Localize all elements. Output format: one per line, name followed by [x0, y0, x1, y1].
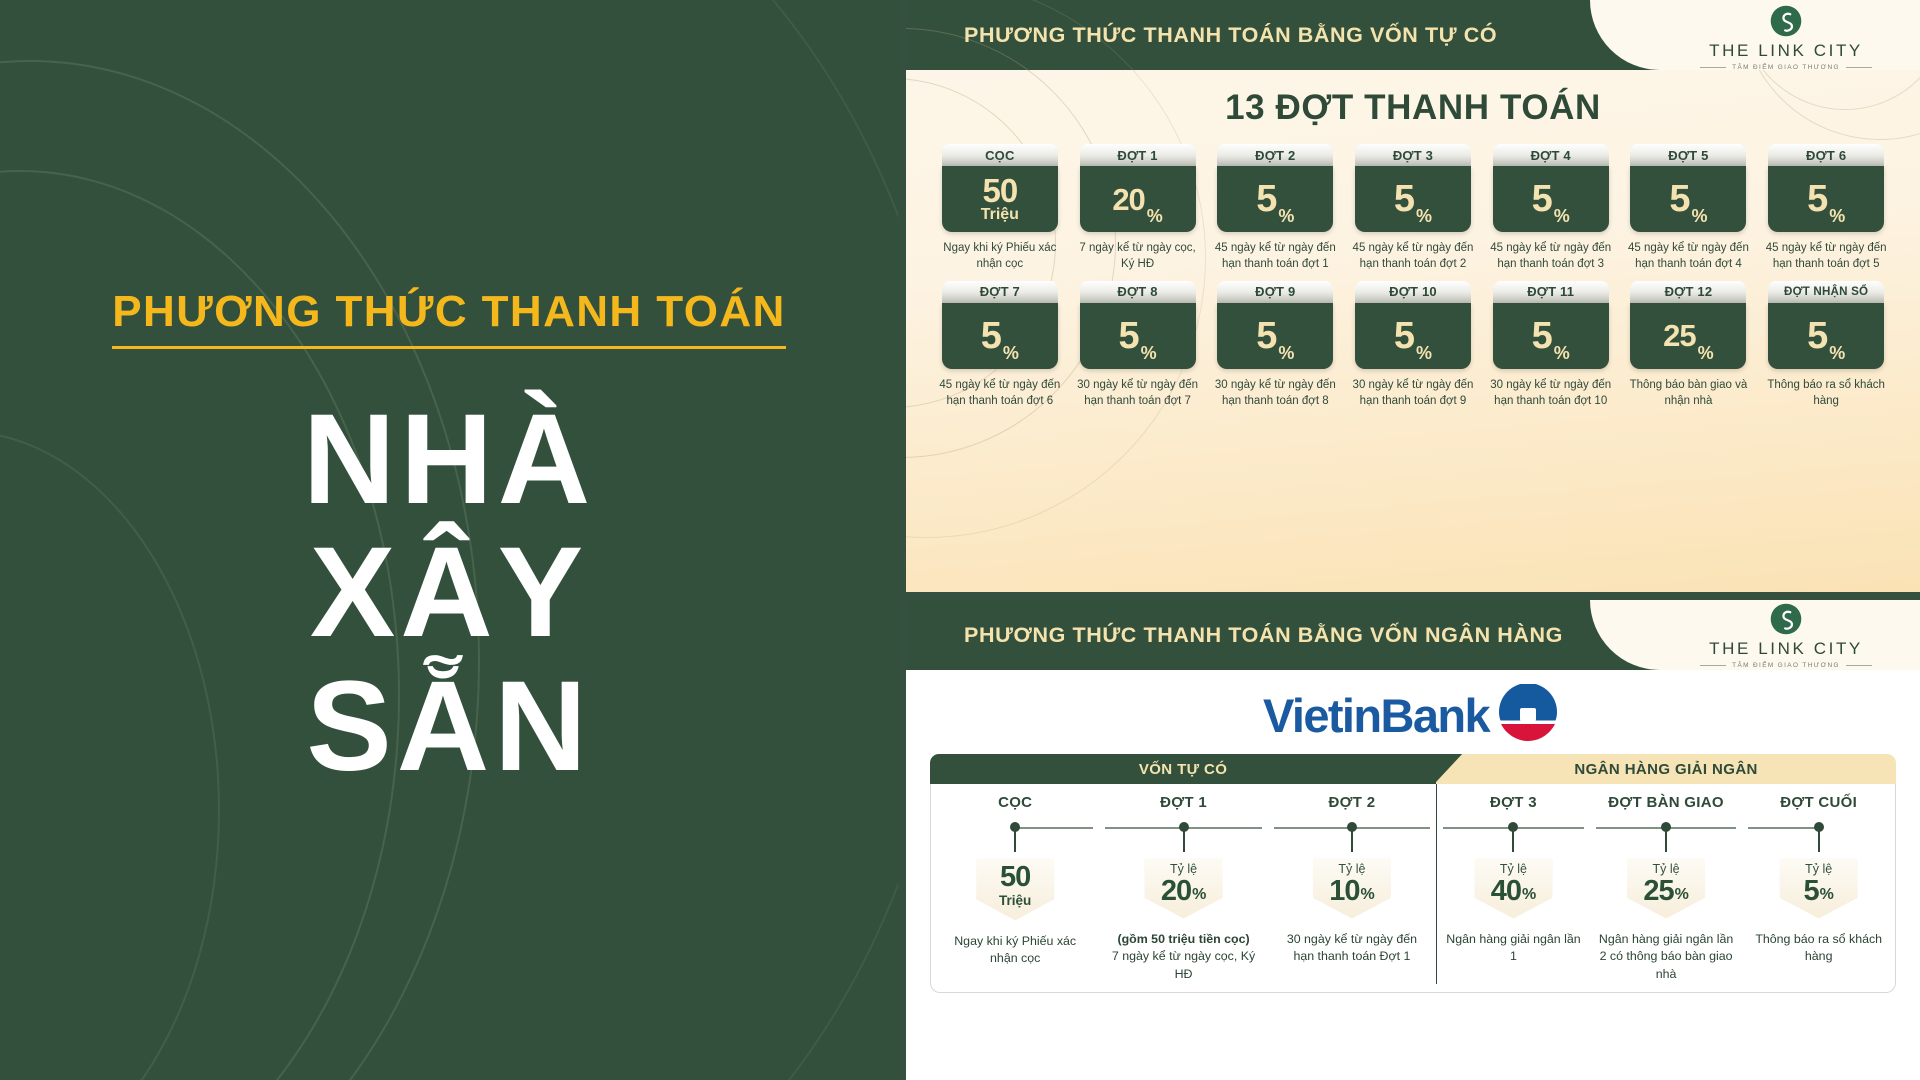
installment-unit: %: [1698, 343, 1714, 369]
installment-unit: %: [1416, 343, 1432, 369]
installment-chip: ĐỢT 55%: [1630, 144, 1746, 232]
brand-logo-bottom: THE LINK CITY TÂM ĐIỂM GIAO THƯƠNG: [1686, 602, 1886, 669]
installment-label: ĐỢT NHẬN SỔ: [1768, 281, 1884, 303]
ratio-badge: Tỷ lệ25%: [1627, 858, 1705, 919]
hero-line-2: XÂY: [310, 526, 588, 659]
installment-label: ĐỢT 5: [1630, 144, 1746, 166]
schedule-column: ĐỢT 1Tỷ lệ20%(gồm 50 triệu tiền cọc)7 ng…: [1099, 784, 1267, 984]
installment-value-box: 5%: [942, 303, 1058, 369]
installment-value-box: 5%: [1768, 303, 1884, 369]
right-column: PHƯƠNG THỨC THANH TOÁN BẰNG VỐN TỰ CÓ TH…: [898, 0, 1920, 1080]
ratio-badge-label: Tỷ lệ: [1338, 863, 1365, 876]
installment-card: ĐỢT 105%30 ngày kể từ ngày đến hạn thanh…: [1349, 281, 1477, 410]
installment-note: Thông báo ra sổ khách hàng: [1762, 378, 1890, 410]
installment-card: ĐỢT 120%7 ngày kể từ ngày cọc, Ký HĐ: [1074, 144, 1202, 273]
installment-card: CỌC50TriệuNgay khi ký Phiếu xác nhận cọc: [936, 144, 1064, 273]
installment-value: 5: [1256, 317, 1276, 355]
self-funded-header-title: PHƯƠNG THỨC THANH TOÁN BẰNG VỐN TỰ CÓ: [964, 23, 1497, 48]
schedule-column-header: ĐỢT CUỐI: [1780, 794, 1857, 811]
installment-card: ĐỢT 65%45 ngày kể từ ngày đến hạn thanh …: [1762, 144, 1890, 273]
ratio-badge-value: 10%: [1329, 877, 1375, 906]
installment-value-box: 20%: [1080, 166, 1196, 232]
installment-note: 45 ngày kể từ ngày đến hạn thanh toán đợ…: [1211, 241, 1339, 273]
installment-value-box: 50Triệu: [942, 166, 1058, 232]
installment-value: 5: [1394, 180, 1414, 218]
installment-value-box: 5%: [1080, 303, 1196, 369]
installment-value-box: 5%: [1355, 166, 1471, 232]
installment-unit: %: [1829, 206, 1845, 232]
group-header-self-funded: VỐN TỰ CÓ: [930, 754, 1436, 784]
timeline-axis: [1748, 818, 1889, 838]
installment-unit: %: [1416, 206, 1432, 232]
installment-note: 30 ngày kể từ ngày đến hạn thanh toán đợ…: [1211, 378, 1339, 410]
installment-note: Thông báo bàn giao và nhận nhà: [1625, 378, 1753, 410]
schedule-note-bold: (gồm 50 triệu tiền cọc): [1117, 932, 1249, 946]
schedule-column-header: CỌC: [998, 794, 1032, 811]
timeline-stem: [1183, 830, 1185, 852]
installment-value: 20: [1112, 184, 1144, 215]
ratio-badge: Tỷ lệ40%: [1474, 858, 1552, 919]
installment-chip: ĐỢT 65%: [1768, 144, 1884, 232]
timeline-axis: [1596, 818, 1737, 838]
installment-label: ĐỢT 9: [1217, 281, 1333, 303]
installment-value: 5: [1807, 180, 1827, 218]
ratio-number: 5: [1804, 877, 1819, 906]
installment-value-box: 5%: [1493, 166, 1609, 232]
schedule-column: ĐỢT 2Tỷ lệ10%30 ngày kể từ ngày đến hạn …: [1268, 784, 1436, 984]
installment-unit: %: [1278, 206, 1294, 232]
installment-value-box: 5%: [1217, 303, 1333, 369]
installment-card: ĐỢT NHẬN SỔ5%Thông báo ra sổ khách hàng: [1762, 281, 1890, 410]
installment-value-box: 5%: [1768, 166, 1884, 232]
timeline-axis: [1443, 818, 1584, 838]
installment-card: ĐỢT 85%30 ngày kể từ ngày đến hạn thanh …: [1074, 281, 1202, 410]
bank-schedule-table: VỐN TỰ CÓ NGÂN HÀNG GIẢI NGÂN CỌC50Triệu…: [930, 754, 1896, 993]
schedule-column-note: (gồm 50 triệu tiền cọc)7 ngày kể từ ngày…: [1109, 931, 1259, 985]
schedule-column-note: Ngay khi ký Phiếu xác nhận cọc: [940, 933, 1090, 969]
installment-value-box: 5%: [1493, 303, 1609, 369]
installment-chip: ĐỢT 45%: [1493, 144, 1609, 232]
installment-label: ĐỢT 1: [1080, 144, 1196, 166]
installment-chip: ĐỢT 95%: [1217, 281, 1333, 369]
schedule-column-note: Ngân hàng giải ngân lần 1: [1443, 931, 1584, 967]
ratio-unit: %: [1522, 886, 1536, 906]
ratio-badge-value: 5%: [1804, 877, 1834, 906]
installment-note: 30 ngày kể từ ngày đến hạn thanh toán đợ…: [1074, 378, 1202, 410]
self-funded-columns: CỌC50TriệuNgay khi ký Phiếu xác nhận cọc…: [931, 784, 1436, 984]
installment-note: 30 ngày kể từ ngày đến hạn thanh toán đợ…: [1349, 378, 1477, 410]
ratio-badge-label: Tỷ lệ: [1653, 863, 1680, 876]
bank-funded-panel: PHƯƠNG THỨC THANH TOÁN BẰNG VỐN NGÂN HÀN…: [906, 600, 1920, 1080]
hero-line-3: SẴN: [306, 660, 591, 793]
installment-label: ĐỢT 2: [1217, 144, 1333, 166]
bank-funded-header-title: PHƯƠNG THỨC THANH TOÁN BẰNG VỐN NGÂN HÀN…: [964, 623, 1563, 648]
ratio-badge: Tỷ lệ20%: [1145, 858, 1223, 919]
table-group-headers: VỐN TỰ CÓ NGÂN HÀNG GIẢI NGÂN: [930, 754, 1896, 784]
schedule-column: ĐỢT 3Tỷ lệ40%Ngân hàng giải ngân lần 1: [1437, 784, 1590, 984]
installment-value: 5: [1256, 180, 1276, 218]
ratio-badge-label: Tỷ lệ: [1170, 863, 1197, 876]
installment-label: ĐỢT 12: [1630, 281, 1746, 303]
vietinbank-emblem-icon: [1493, 684, 1563, 746]
installment-card: ĐỢT 1225%Thông báo bàn giao và nhận nhà: [1625, 281, 1753, 410]
installments-title: 13 ĐỢT THANH TOÁN: [936, 88, 1890, 128]
installment-unit: %: [1554, 206, 1570, 232]
timeline-stem: [1351, 830, 1353, 852]
installment-value: 5: [981, 317, 1001, 355]
installment-card: ĐỢT 115%30 ngày kể từ ngày đến hạn thanh…: [1487, 281, 1615, 410]
brand-tagline: TÂM ĐIỂM GIAO THƯƠNG: [1700, 662, 1872, 669]
installment-unit: %: [1829, 343, 1845, 369]
installment-value-box: 25%: [1630, 303, 1746, 369]
installment-unit: %: [1141, 343, 1157, 369]
ratio-number: 10: [1329, 877, 1359, 906]
installment-chip: CỌC50Triệu: [942, 144, 1058, 232]
installment-note: 45 ngày kể từ ngày đến hạn thanh toán đợ…: [936, 378, 1064, 410]
installment-unit: %: [1691, 206, 1707, 232]
ratio-badge: Tỷ lệ10%: [1313, 858, 1391, 919]
installment-value: 5: [1118, 317, 1138, 355]
installment-chip: ĐỢT 105%: [1355, 281, 1471, 369]
ratio-unit: %: [1675, 886, 1689, 906]
ratio-unit: %: [1360, 886, 1374, 906]
installment-card: ĐỢT 75%45 ngày kể từ ngày đến hạn thanh …: [936, 281, 1064, 410]
ratio-badge-value: 20%: [1161, 877, 1207, 906]
installment-value: 5: [1669, 180, 1689, 218]
installment-value: 5: [1394, 317, 1414, 355]
installment-unit: %: [1147, 206, 1163, 232]
installment-value: 50: [982, 174, 1017, 207]
vietinbank-logo: VietinBank: [906, 684, 1920, 746]
table-body: CỌC50TriệuNgay khi ký Phiếu xác nhận cọc…: [930, 784, 1896, 993]
schedule-column-header: ĐỢT 1: [1160, 794, 1207, 811]
installment-chip: ĐỢT 85%: [1080, 281, 1196, 369]
schedule-column-note: 30 ngày kể từ ngày đến hạn thanh toán Đợ…: [1277, 931, 1427, 967]
ratio-unit: %: [1820, 886, 1834, 906]
slide-root: PHƯƠNG THỨC THANH TOÁN NHÀ XÂY SẴN PHƯƠN…: [0, 0, 1920, 1080]
schedule-column: ĐỢT BÀN GIAOTỷ lệ25%Ngân hàng giải ngân …: [1590, 784, 1743, 984]
installment-card: ĐỢT 55%45 ngày kể từ ngày đến hạn thanh …: [1625, 144, 1753, 273]
installment-label: ĐỢT 3: [1355, 144, 1471, 166]
ratio-number: 40: [1491, 877, 1521, 906]
ratio-number: 20: [1161, 877, 1191, 906]
timeline-axis: [937, 818, 1093, 838]
ratio-sub: Triệu: [999, 894, 1031, 908]
installment-value-box: 5%: [1217, 166, 1333, 232]
installment-note: 45 ngày kể từ ngày đến hạn thanh toán đợ…: [1487, 241, 1615, 273]
installment-note: 45 ngày kể từ ngày đến hạn thanh toán đợ…: [1349, 241, 1477, 273]
timeline-axis: [1274, 818, 1430, 838]
schedule-column-header: ĐỢT BÀN GIAO: [1608, 794, 1724, 811]
ratio-badge-value: 25%: [1643, 877, 1689, 906]
installment-unit: %: [1003, 343, 1019, 369]
self-funded-header: PHƯƠNG THỨC THANH TOÁN BẰNG VỐN TỰ CÓ TH…: [906, 0, 1920, 70]
timeline-stem: [1512, 830, 1514, 852]
installment-card: ĐỢT 95%30 ngày kể từ ngày đến hạn thanh …: [1211, 281, 1339, 410]
installment-chip: ĐỢT 35%: [1355, 144, 1471, 232]
schedule-column-header: ĐỢT 2: [1329, 794, 1376, 811]
ratio-unit: %: [1192, 886, 1206, 906]
schedule-column: CỌC50TriệuNgay khi ký Phiếu xác nhận cọc: [931, 784, 1099, 984]
installment-sub: Triệu: [981, 206, 1019, 224]
installment-card: ĐỢT 35%45 ngày kể từ ngày đến hạn thanh …: [1349, 144, 1477, 273]
bank-funded-header: PHƯƠNG THỨC THANH TOÁN BẰNG VỐN NGÂN HÀN…: [906, 600, 1920, 670]
installment-label: ĐỢT 10: [1355, 281, 1471, 303]
ratio-number: 50: [1000, 863, 1030, 892]
installment-chip: ĐỢT 75%: [942, 281, 1058, 369]
link-logo-icon: [1769, 4, 1803, 38]
installment-value: 5: [1807, 317, 1827, 355]
installment-card: ĐỢT 25%45 ngày kể từ ngày đến hạn thanh …: [1211, 144, 1339, 273]
left-hero-panel: PHƯƠNG THỨC THANH TOÁN NHÀ XÂY SẴN: [0, 0, 898, 1080]
ratio-number: 25: [1643, 877, 1673, 906]
installment-value-box: 5%: [1355, 303, 1471, 369]
brand-name: THE LINK CITY: [1709, 639, 1863, 659]
hero-line-1: NHÀ: [303, 393, 595, 526]
installment-chip: ĐỢT 115%: [1493, 281, 1609, 369]
vietinbank-wordmark: VietinBank: [1263, 688, 1489, 743]
installment-label: CỌC: [942, 144, 1058, 166]
installment-value: 5: [1532, 180, 1552, 218]
installment-chip: ĐỢT NHẬN SỔ5%: [1768, 281, 1884, 369]
installment-card: ĐỢT 45%45 ngày kể từ ngày đến hạn thanh …: [1487, 144, 1615, 273]
installment-chip: ĐỢT 120%: [1080, 144, 1196, 232]
installment-unit: %: [1278, 343, 1294, 369]
installment-note: 7 ngày kể từ ngày cọc, Ký HĐ: [1074, 241, 1202, 273]
timeline-stem: [1665, 830, 1667, 852]
installment-chip: ĐỢT 1225%: [1630, 281, 1746, 369]
ratio-badge-value: 40%: [1491, 877, 1537, 906]
page-title: PHƯƠNG THỨC THANH TOÁN: [112, 287, 785, 349]
installment-label: ĐỢT 8: [1080, 281, 1196, 303]
timeline-axis: [1105, 818, 1261, 838]
installment-value: 5: [1532, 317, 1552, 355]
schedule-column: ĐỢT CUỐITỷ lệ5%Thông báo ra sổ khách hàn…: [1742, 784, 1895, 984]
schedule-column-note: Thông báo ra sổ khách hàng: [1748, 931, 1889, 967]
installment-row-1: CỌC50TriệuNgay khi ký Phiếu xác nhận cọc…: [936, 144, 1890, 273]
brand-tagline: TÂM ĐIỂM GIAO THƯƠNG: [1700, 64, 1872, 71]
link-logo-icon: [1769, 602, 1803, 636]
installment-value: 25: [1663, 320, 1695, 351]
brand-logo-top: THE LINK CITY TÂM ĐIỂM GIAO THƯƠNG: [1686, 4, 1886, 71]
installment-note: Ngay khi ký Phiếu xác nhận cọc: [936, 241, 1064, 273]
installment-value-box: 5%: [1630, 166, 1746, 232]
ratio-badge-label: Tỷ lệ: [1500, 863, 1527, 876]
ratio-badge-label: Tỷ lệ: [1805, 863, 1832, 876]
installment-unit: %: [1554, 343, 1570, 369]
self-funded-panel: PHƯƠNG THỨC THANH TOÁN BẰNG VỐN TỰ CÓ TH…: [906, 0, 1920, 592]
installment-label: ĐỢT 11: [1493, 281, 1609, 303]
installment-label: ĐỢT 7: [942, 281, 1058, 303]
installment-chip: ĐỢT 25%: [1217, 144, 1333, 232]
installment-note: 45 ngày kể từ ngày đến hạn thanh toán đợ…: [1762, 241, 1890, 273]
self-funded-body: 13 ĐỢT THANH TOÁN CỌC50TriệuNgay khi ký …: [906, 88, 1920, 409]
installment-note: 45 ngày kể từ ngày đến hạn thanh toán đợ…: [1625, 241, 1753, 273]
installment-note: 30 ngày kể từ ngày đến hạn thanh toán đợ…: [1487, 378, 1615, 410]
installment-label: ĐỢT 6: [1768, 144, 1884, 166]
bank-disburse-columns: ĐỢT 3Tỷ lệ40%Ngân hàng giải ngân lần 1ĐỢ…: [1436, 784, 1895, 984]
schedule-column-note: Ngân hàng giải ngân lần 2 có thông báo b…: [1596, 931, 1737, 985]
brand-name: THE LINK CITY: [1709, 41, 1863, 61]
ratio-badge-value: 50: [1000, 863, 1030, 892]
timeline-stem: [1014, 830, 1016, 852]
group-header-bank-disburse: NGÂN HÀNG GIẢI NGÂN: [1436, 754, 1896, 784]
installment-row-2: ĐỢT 75%45 ngày kể từ ngày đến hạn thanh …: [936, 281, 1890, 410]
ratio-badge: 50Triệu: [976, 858, 1054, 921]
installment-label: ĐỢT 4: [1493, 144, 1609, 166]
schedule-column-header: ĐỢT 3: [1490, 794, 1537, 811]
ratio-badge: Tỷ lệ5%: [1780, 858, 1858, 919]
timeline-stem: [1818, 830, 1820, 852]
